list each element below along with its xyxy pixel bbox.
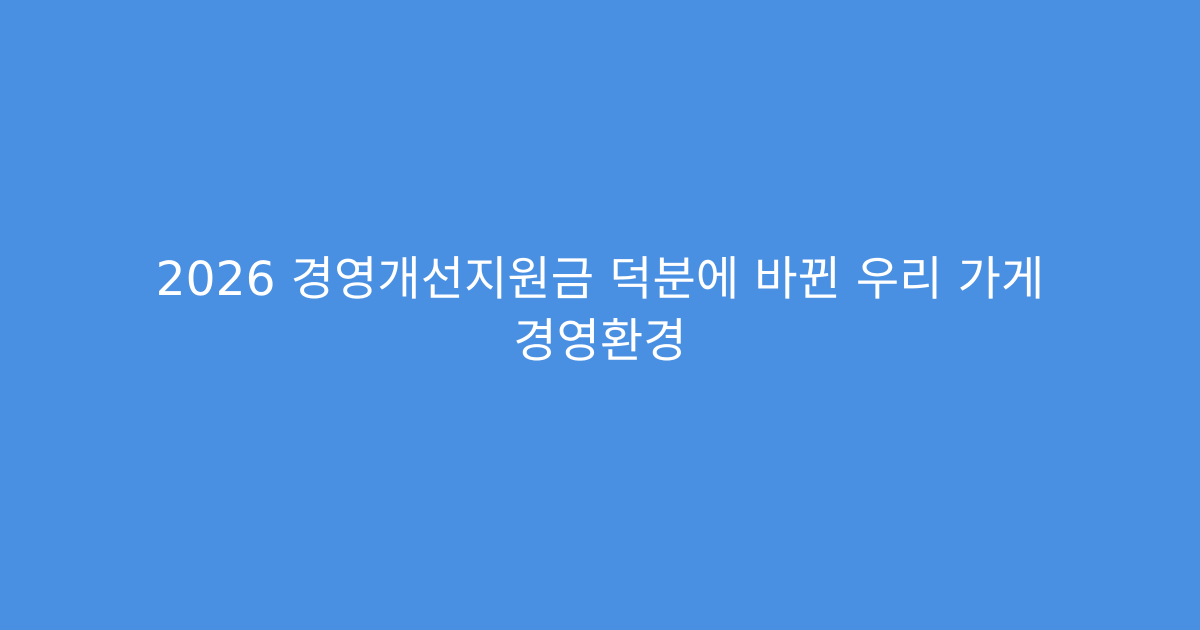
page-title: 2026 경영개선지원금 덕분에 바뀐 우리 가게 경영환경: [77, 249, 1123, 373]
title-block: 2026 경영개선지원금 덕분에 바뀐 우리 가게 경영환경: [77, 249, 1123, 373]
og-share-card: 2026 경영개선지원금 덕분에 바뀐 우리 가게 경영환경: [0, 0, 1200, 630]
